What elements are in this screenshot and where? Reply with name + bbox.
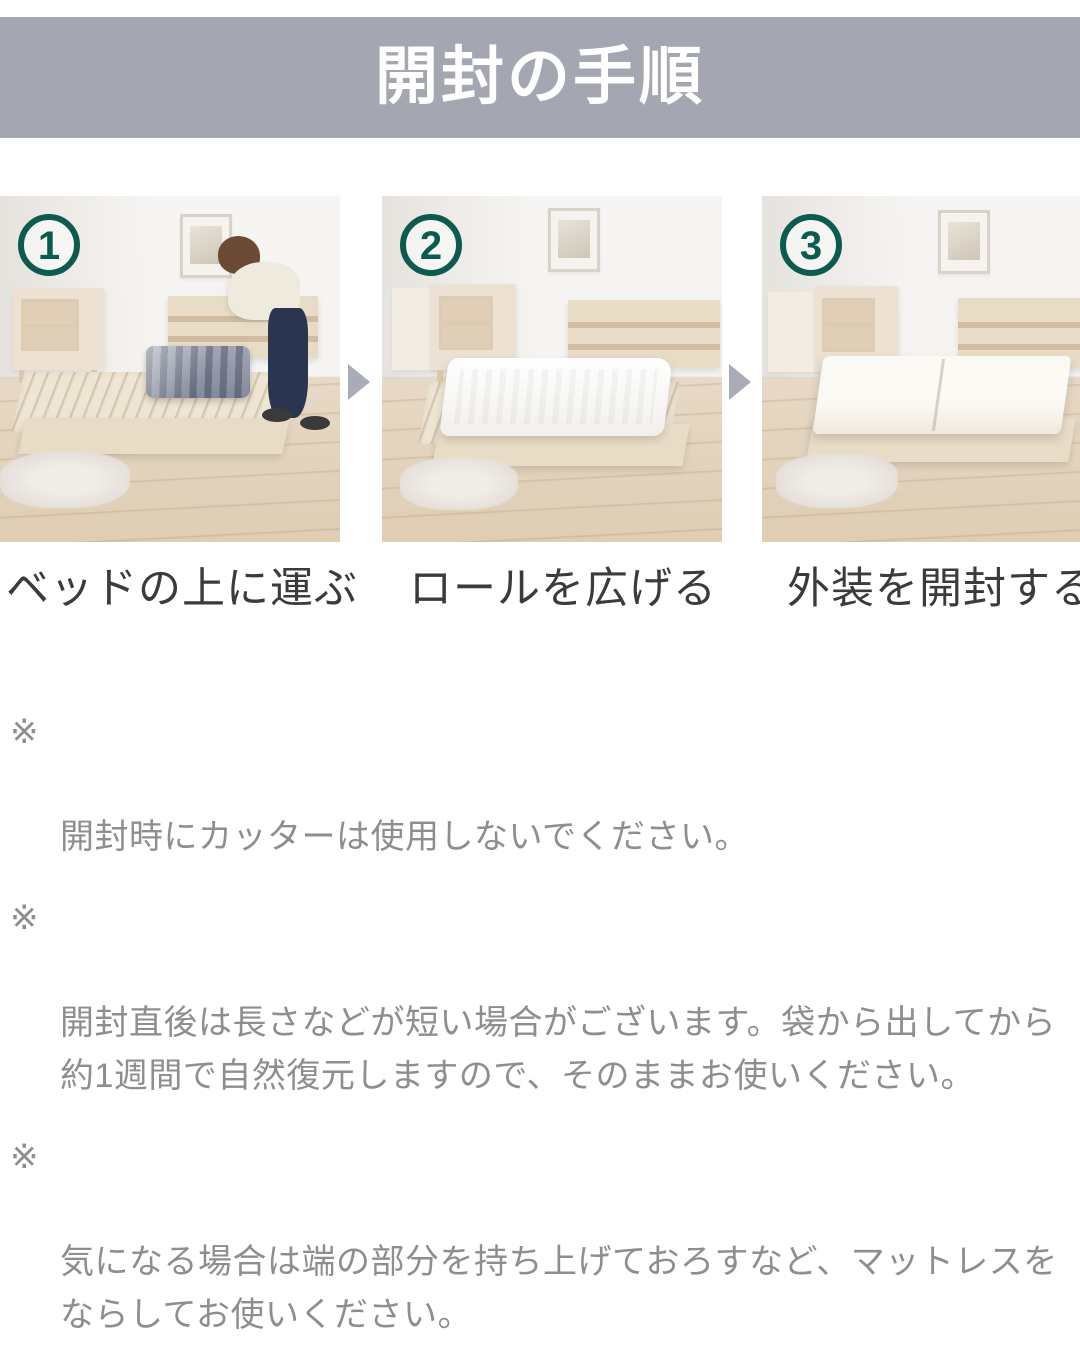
note-text: 開封時にカッターは使用しないでください。 [60,818,749,856]
headboard-slat [958,344,1080,350]
wall-picture-frame [938,210,990,274]
step-badge-2: 2 [400,214,462,276]
headboard-slat [568,344,720,350]
mattress [813,356,1072,434]
step-image-2: 2 [382,196,722,542]
cabinet-shelf [822,324,875,352]
floor-rug [400,458,518,510]
wall-picture-frame [548,208,600,272]
triangle-right-icon [729,364,751,400]
cabinet-shelf [21,299,79,326]
step-caption-2: ロールを広げる [409,564,717,616]
page-title: 開封の手順 [375,46,705,109]
cabinet-shelf [21,324,79,351]
floor-rug [0,452,130,508]
person-legs [268,308,308,418]
shelf-cabinet [12,288,104,370]
headboard-slat [958,322,1080,328]
triangle-right-icon [348,364,370,400]
note-marker: ※ [10,892,39,945]
notes-list: ※ 開封時にカッターは使用しないでください。 ※ 開封直後は長さなどが短い場合が… [0,706,1080,1370]
step-caption-1: ベッドの上に運ぶ [6,564,358,616]
note-item: ※ 開封時にカッターは使用しないでください。 [0,706,1080,864]
steps-strip: 1 2 [0,196,1080,542]
floor-rug [776,454,898,508]
step-badge-1: 1 [18,214,80,276]
cabinet-shelf [439,322,493,350]
mattress-seam [932,359,945,431]
step-badge-3: 3 [780,214,842,276]
headboard-slat [568,322,720,328]
note-item: ※ 開封直後は長さなどが短い場合がございます。袋から出してから 約1週間で自然復… [0,892,1080,1103]
step-image-1: 1 [0,196,340,542]
cabinet-shelf [822,298,875,326]
person-foot [262,408,292,422]
bed-frame [18,418,290,454]
cabinet-shelf [439,296,493,324]
note-marker: ※ [10,1131,39,1184]
note-marker: ※ [10,706,39,759]
step-caption-3: 外装を開封する [787,564,1080,616]
header-banner: 開封の手順 [0,17,1080,138]
mattress-roll [146,346,250,398]
person-foot [300,416,330,430]
step-image-3: 3 [762,196,1080,542]
note-text: 開封直後は長さなどが短い場合がございます。袋から出してから 約1週間で自然復元し… [60,1004,1056,1095]
wrapped-mattress [439,358,673,436]
note-text: 気になる場合は端の部分を持ち上げておろすなど、マットレスを ならしてお使いくださ… [60,1243,1058,1334]
note-item: ※ 気になる場合は端の部分を持ち上げておろすなど、マットレスを ならしてお使いく… [0,1131,1080,1342]
